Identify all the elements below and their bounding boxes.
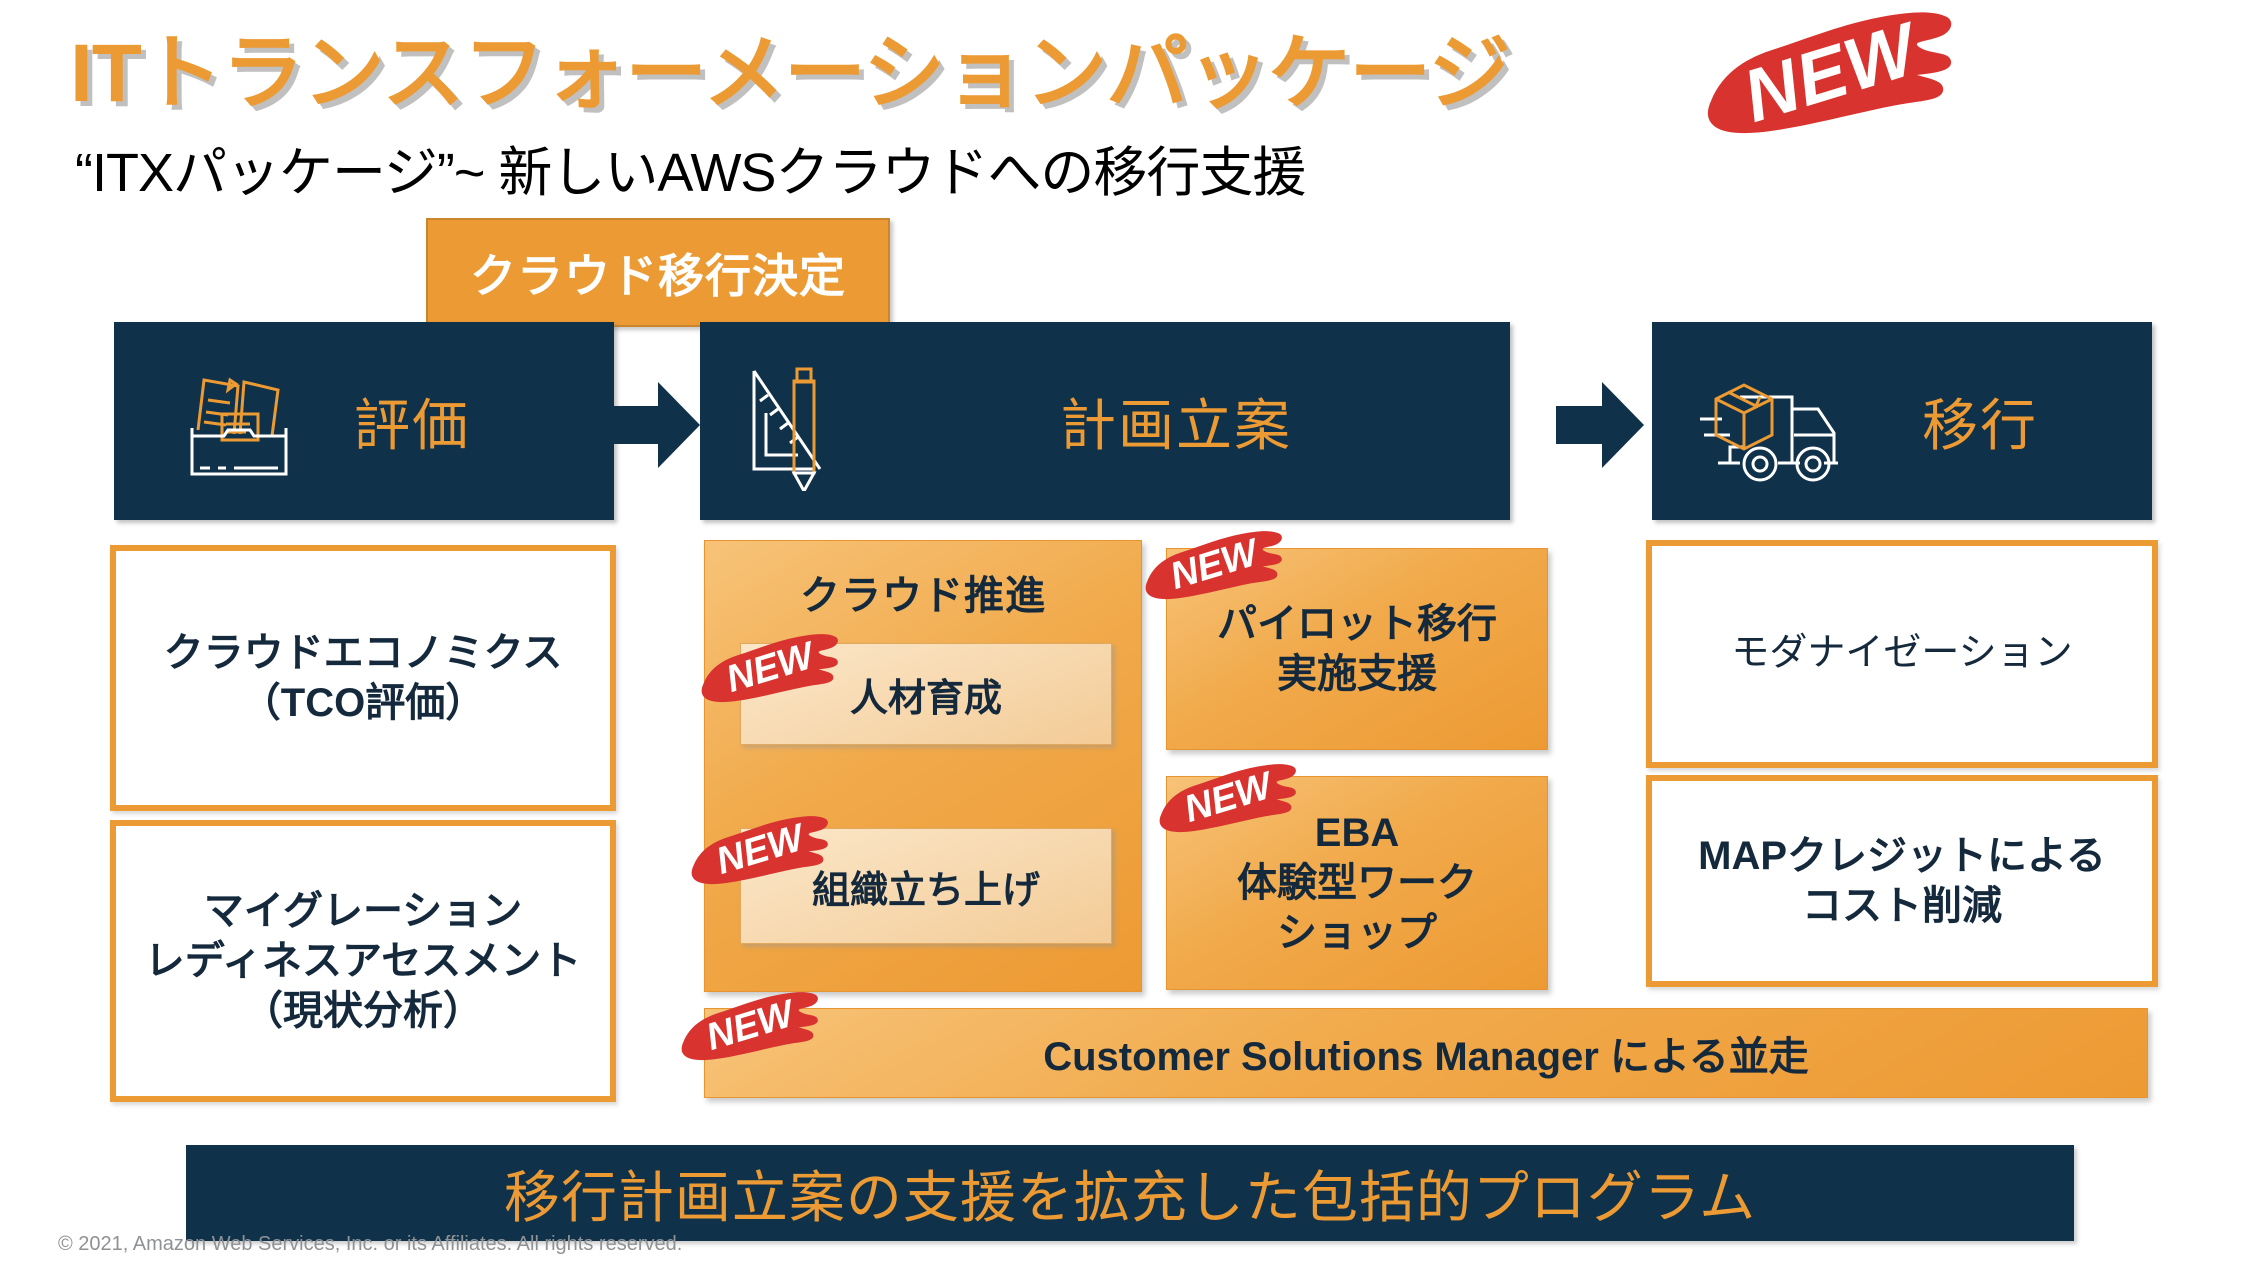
- item-eba-workshop: EBA 体験型ワーク ショップ: [1166, 776, 1548, 990]
- card-cloud-economics-line2: （TCO評価）: [164, 678, 563, 728]
- item-eba-workshop-line2: 体験型ワーク: [1237, 858, 1477, 908]
- flow-arrow-1-icon: [612, 380, 700, 470]
- item-pilot-migration: パイロット移行 実施支援: [1166, 548, 1548, 750]
- card-migration-readiness-line2: レディネスアセスメント: [145, 936, 581, 986]
- card-cloud-economics-line1: クラウドエコノミクス: [164, 628, 563, 678]
- group-cloud-promotion-title: クラウド推進: [800, 563, 1046, 621]
- stage-plan-label: 計画立案: [1060, 381, 1292, 462]
- stage-migrate: 移行: [1652, 322, 2152, 520]
- stage-migrate-label: 移行: [1922, 381, 2038, 462]
- bottom-banner-text: 移行計画立案の支援を拡充した包括的プログラム: [504, 1153, 1756, 1234]
- item-org-establishment: 組織立ち上げ: [740, 828, 1112, 944]
- stage-assess: 評価: [114, 322, 614, 520]
- card-map-credit: MAPクレジットによる コスト削減: [1646, 775, 2158, 987]
- card-cloud-economics: クラウドエコノミクス （TCO評価）: [110, 545, 616, 811]
- item-talent-development: 人材育成: [740, 643, 1112, 745]
- brush-stroke-icon: [1705, 5, 1955, 140]
- documents-folder-icon: [164, 356, 314, 486]
- item-eba-workshop-line1: EBA: [1237, 808, 1477, 858]
- card-modernization: モダナイゼーション: [1646, 540, 2158, 768]
- card-map-credit-line2: コスト削減: [1698, 881, 2106, 931]
- stage-assess-label: 評価: [354, 381, 470, 462]
- card-map-credit-line1: MAPクレジットによる: [1698, 831, 2106, 881]
- copyright-footer: © 2021, Amazon Web Services, Inc. or its…: [58, 1233, 682, 1256]
- ruler-pencil-icon: [736, 351, 866, 491]
- stage-plan: 計画立案: [700, 322, 1510, 520]
- item-pilot-migration-line2: 実施支援: [1217, 649, 1497, 699]
- bottom-banner: 移行計画立案の支援を拡充した包括的プログラム: [186, 1145, 2074, 1241]
- card-migration-readiness-line3: （現状分析）: [145, 986, 581, 1036]
- page-subtitle: “ITXパッケージ”~ 新しいAWSクラウドへの移行支援: [75, 128, 1305, 207]
- card-migration-readiness: マイグレーション レディネスアセスメント （現状分析）: [110, 820, 616, 1102]
- item-pilot-migration-line1: パイロット移行: [1217, 599, 1497, 649]
- item-eba-workshop-line3: ショップ: [1237, 908, 1477, 958]
- card-migration-readiness-line1: マイグレーション: [145, 886, 581, 936]
- delivery-truck-box-icon: [1682, 351, 1872, 491]
- flow-arrow-2-icon: [1556, 380, 1644, 470]
- new-badge-label: NEW: [1691, 0, 1970, 174]
- cloud-migration-decision-tab: クラウド移行決定: [426, 218, 890, 327]
- new-badge-title: NEW: [1705, 5, 1955, 140]
- bar-customer-solutions-manager: Customer Solutions Manager による並走: [704, 1008, 2148, 1098]
- page-title: ITトランスフォーメーションパッケージ: [70, 6, 1510, 125]
